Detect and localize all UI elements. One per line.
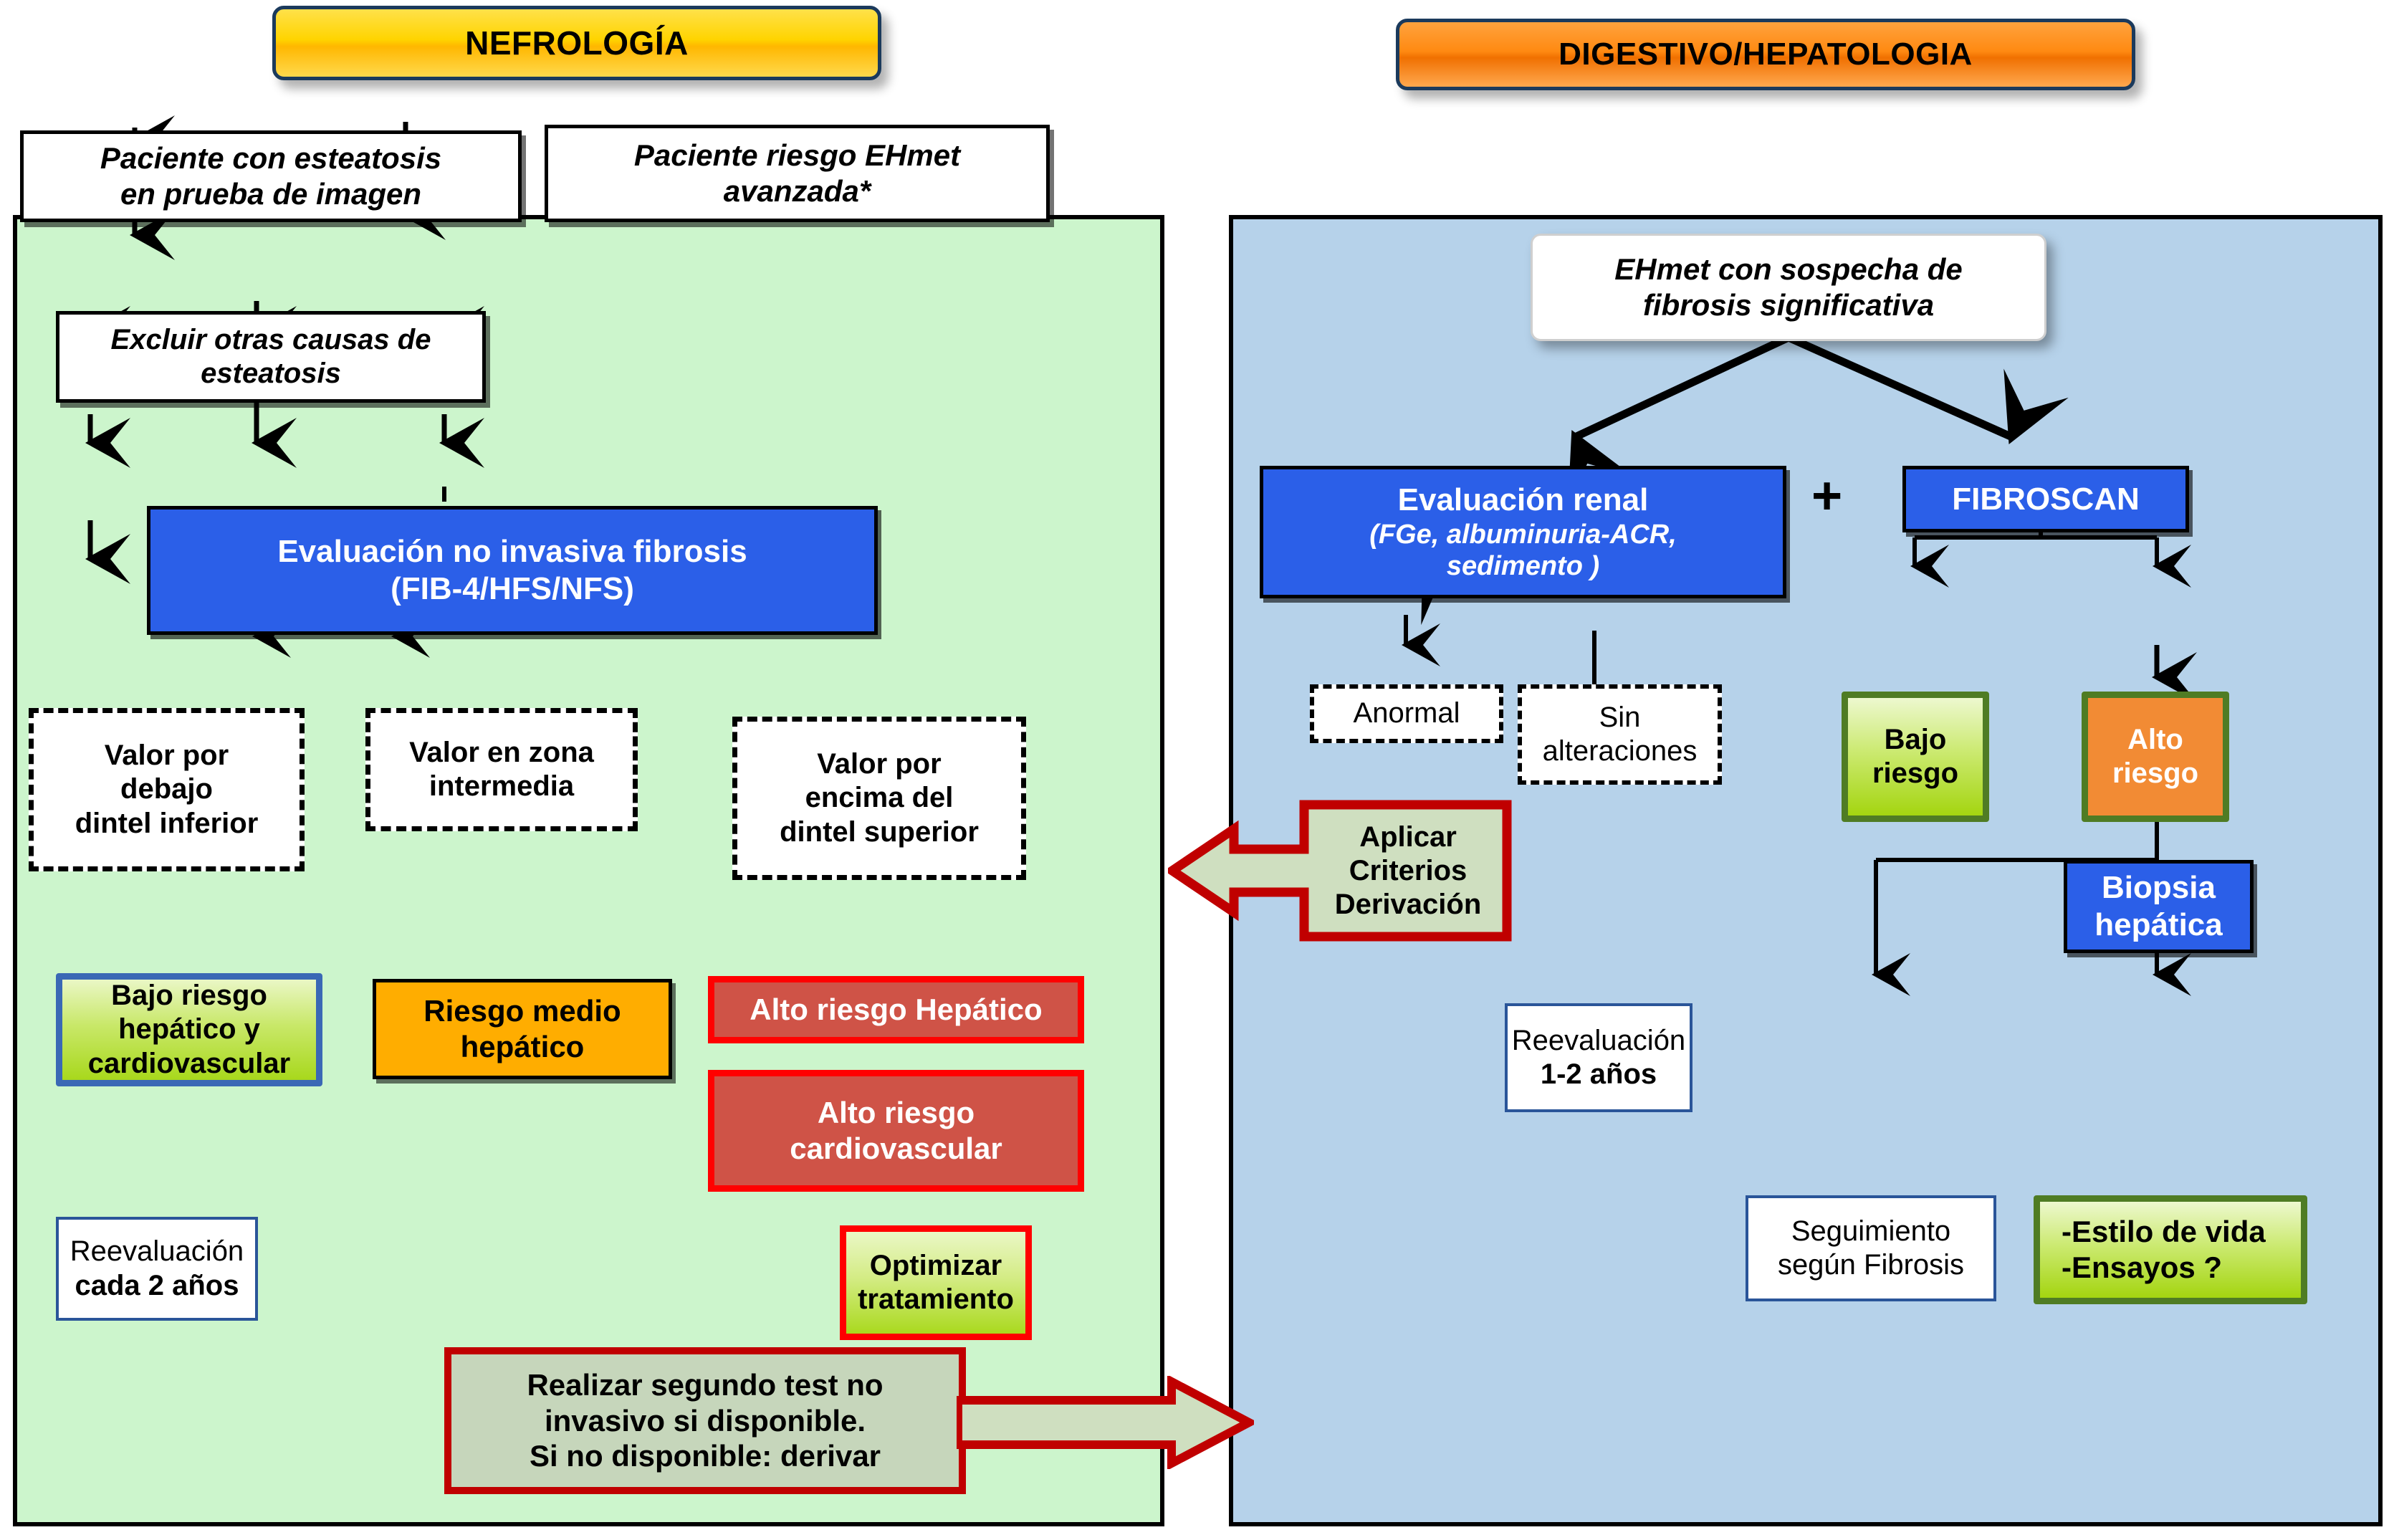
reev-dig-line1: Reevaluación — [1512, 1024, 1685, 1058]
reev-dig-line2: 1-2 años — [1541, 1058, 1657, 1091]
arrow-derivar-to-digestivo — [957, 1376, 1254, 1469]
node-valor-debajo-dintel: Valor por debajo dintel inferior — [29, 708, 305, 871]
node-sin-alteraciones: Sin alteraciones — [1518, 684, 1722, 785]
alto-riesgo-fs-line1: Alto — [2127, 723, 2183, 757]
optimizar-line2: tratamiento — [858, 1283, 1014, 1316]
excluir-line2: esteatosis — [201, 357, 341, 391]
alto-cv-line2: cardiovascular — [790, 1131, 1002, 1167]
node-segundo-test: Realizar segundo test no invasivo si dis… — [444, 1347, 966, 1494]
node-valor-zona-intermedia: Valor en zona intermedia — [365, 708, 638, 831]
branch0-line2: debajo — [120, 773, 213, 806]
bajo-riesgo-line1: Bajo riesgo — [111, 979, 267, 1013]
branch2-line1: Valor por — [817, 747, 941, 781]
branch0-line1: Valor por — [105, 739, 229, 773]
node-excluir-causas: Excluir otras causas de esteatosis — [56, 311, 486, 403]
entry-left-line2: en prueba de imagen — [120, 176, 421, 212]
node-valor-encima-dintel: Valor por encima del dintel superior — [732, 717, 1026, 880]
flowchart-canvas: NEFROLOGÍA DIGESTIVO/HEPATOLOGIA — [0, 0, 2394, 1540]
bajo-riesgo-line3: cardiovascular — [88, 1047, 290, 1081]
node-seguimiento-fibrosis: Seguimiento según Fibrosis — [1746, 1195, 1996, 1301]
node-alto-riesgo-cardiovascular: Alto riesgo cardiovascular — [708, 1070, 1084, 1192]
node-optimizar-tratamiento: Optimizar tratamiento — [840, 1225, 1032, 1340]
alto-cv-line1: Alto riesgo — [818, 1095, 975, 1131]
segundo-test-line1: Realizar segundo test no — [527, 1367, 883, 1403]
node-paciente-riesgo-ehmet: Paciente riesgo EHmet avanzada* — [545, 125, 1050, 222]
branch0-line3: dintel inferior — [75, 807, 259, 841]
reev-line2: cada 2 años — [75, 1269, 239, 1303]
node-riesgo-medio: Riesgo medio hepático — [373, 979, 672, 1079]
excluir-line1: Excluir otras causas de — [111, 323, 431, 357]
node-reevaluacion-2anos: Reevaluación cada 2 años — [56, 1217, 258, 1321]
bajo-riesgo-line2: hepático y — [118, 1013, 260, 1046]
renal-title: Evaluación renal — [1398, 482, 1649, 519]
riesgo-medio-line2: hepático — [461, 1029, 585, 1065]
renal-sub1: (FGe, albuminuria-ACR, — [1369, 519, 1677, 551]
header-digestivo: DIGESTIVO/HEPATOLOGIA — [1396, 19, 2135, 90]
fibroscan-label: FIBROSCAN — [1952, 481, 2140, 518]
biopsia-line1: Biopsia — [2102, 869, 2216, 907]
sin-alt-line1: Sin — [1599, 701, 1641, 735]
bajo-riesgo-fs-line2: riesgo — [1872, 757, 1958, 790]
entry-right-line2: avanzada* — [724, 173, 871, 209]
riesgo-medio-line1: Riesgo medio — [423, 993, 621, 1029]
ehmet-line1: EHmet con sospecha de — [1614, 252, 1962, 287]
node-reevaluacion-1-2-anos: Reevaluación 1-2 años — [1505, 1003, 1692, 1112]
header-nefrologia: NEFROLOGÍA — [272, 6, 881, 80]
lifestyle-line2: -Ensayos ? — [2062, 1250, 2222, 1286]
seguimiento-line2: según Fibrosis — [1778, 1248, 1964, 1282]
branch2-line2: encima del — [805, 781, 954, 815]
node-alto-riesgo-hepatico: Alto riesgo Hepático — [708, 976, 1084, 1043]
plus-icon: + — [1811, 469, 1842, 522]
branch2-line3: dintel superior — [780, 816, 979, 849]
optimizar-line1: Optimizar — [870, 1249, 1002, 1283]
node-fibroscan: FIBROSCAN — [1902, 466, 2189, 532]
segundo-test-line2: invasivo si disponible. — [545, 1403, 866, 1439]
node-biopsia-hepatica: Biopsia hepática — [2064, 860, 2254, 953]
alto-riesgo-fs-line2: riesgo — [2112, 757, 2198, 790]
entry-left-line1: Paciente con esteatosis — [100, 140, 441, 176]
alto-hepatico-line1: Alto riesgo Hepático — [750, 992, 1042, 1028]
renal-sub2: sedimento ) — [1447, 550, 1599, 583]
ehmet-line2: fibrosis significativa — [1643, 287, 1934, 323]
aplicar-line2: Criterios — [1349, 854, 1467, 888]
reev-line1: Reevaluación — [70, 1235, 244, 1268]
branch1-line2: intermedia — [429, 770, 574, 803]
node-bajo-riesgo-fibroscan: Bajo riesgo — [1842, 692, 1989, 822]
node-bajo-riesgo: Bajo riesgo hepático y cardiovascular — [56, 973, 322, 1086]
entry-right-line1: Paciente riesgo EHmet — [634, 138, 960, 173]
sin-alt-line2: alteraciones — [1543, 735, 1698, 768]
bajo-riesgo-fs-line1: Bajo — [1885, 723, 1947, 757]
node-evaluacion-no-invasiva: Evaluación no invasiva fibrosis (FIB-4/H… — [147, 506, 878, 635]
evaluacion-line2: (FIB-4/HFS/NFS) — [391, 570, 634, 608]
segundo-test-line3: Si no disponible: derivar — [530, 1438, 881, 1474]
branch1-line1: Valor en zona — [409, 736, 594, 770]
node-alto-riesgo-fibroscan: Alto riesgo — [2082, 692, 2229, 822]
node-estilo-vida-ensayos: -Estilo de vida -Ensayos ? — [2034, 1195, 2307, 1304]
node-evaluacion-renal: Evaluación renal (FGe, albuminuria-ACR, … — [1260, 466, 1786, 598]
evaluacion-line1: Evaluación no invasiva fibrosis — [277, 533, 747, 570]
biopsia-line2: hepática — [2094, 907, 2223, 944]
node-aplicar-criterios: Aplicar Criterios Derivación — [1311, 805, 1505, 937]
aplicar-line3: Derivación — [1335, 888, 1482, 922]
anormal-label: Anormal — [1354, 697, 1460, 730]
node-ehmet-sospecha: EHmet con sospecha de fibrosis significa… — [1531, 234, 2046, 341]
seguimiento-line1: Seguimiento — [1791, 1215, 1950, 1248]
lifestyle-line1: -Estilo de vida — [2062, 1214, 2266, 1250]
aplicar-line1: Aplicar — [1359, 821, 1457, 854]
node-anormal: Anormal — [1310, 684, 1503, 743]
node-paciente-esteatosis: Paciente con esteatosis en prueba de ima… — [20, 130, 522, 222]
